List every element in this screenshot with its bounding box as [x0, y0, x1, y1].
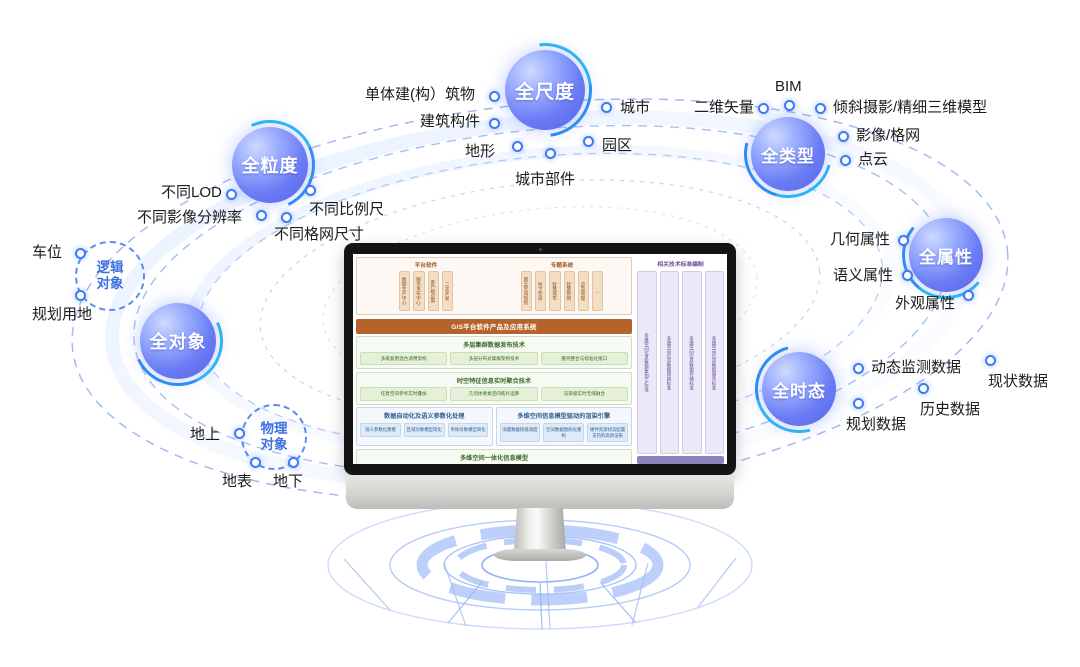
special-chip[interactable]: 应急管理: [578, 271, 589, 311]
dot-object-logical-1[interactable]: [75, 248, 86, 259]
standard-item[interactable]: 多维空间信息数据转换标准: [660, 271, 680, 454]
special-chip[interactable]: 智慧城市: [549, 271, 560, 311]
label-scale-1: 单体建(构）筑物: [365, 83, 475, 104]
section-cell[interactable]: 海量数据快速调度: [500, 423, 541, 442]
platform-software-title: 平台软件: [360, 261, 492, 269]
dot-object-logical-2[interactable]: [75, 290, 86, 301]
section-semantic-processing: 数据自动化及语义参数化处理 语义参数化建模 区域对象模型简化 单体对象模型简化: [356, 407, 493, 446]
monitor-stand-foot: [494, 549, 586, 561]
dot-object-physical-1[interactable]: [234, 428, 245, 439]
label-temporal-4: 规划数据: [846, 413, 906, 434]
subcircle-label: 物理 对象: [261, 421, 288, 454]
label-object-physical-3: 地下: [273, 470, 303, 491]
label-attribute-2: 语义属性: [833, 264, 893, 285]
label-granularity-1: 不同LOD: [161, 181, 222, 202]
label-scale-2: 建筑构件: [420, 110, 480, 131]
section-cell[interactable]: 几何体要素空间拓扑运算: [450, 387, 537, 401]
dot-type-1[interactable]: [758, 103, 769, 114]
section-cell[interactable]: 服务整合与标准化接口: [541, 352, 628, 366]
standards-title: 相关技术标准编制: [637, 259, 724, 268]
dot-temporal-4[interactable]: [853, 398, 864, 409]
section-cell[interactable]: 渲染级实时无缝融合: [541, 387, 628, 401]
subcircle-label: 逻辑 对象: [97, 260, 124, 293]
gis-platform-bar: GIS平台软件产品及应用系统: [356, 319, 632, 334]
node-label: 全对象: [150, 328, 207, 354]
standards-base-bar: [637, 456, 724, 464]
dot-type-5[interactable]: [840, 155, 851, 166]
section-title: 多层集群数据发布技术: [360, 340, 628, 349]
dot-granularity-2[interactable]: [256, 210, 267, 221]
section-cell[interactable]: 多层分布式集群架构技术: [450, 352, 537, 366]
monitor-screen: 平台软件 数据生产中心 服务发布中心 客户端应用 二次开发 专题系统: [353, 254, 727, 464]
label-scale-3: 地形: [465, 140, 495, 161]
standard-item[interactable]: 多维空间信息数据存储标准: [682, 271, 702, 454]
section-title: 多维空间信息模型驱动的渲染引擎: [500, 411, 629, 420]
infographic-canvas: 全尺度 全粒度 全类型 全属性 全对象 全时态 逻辑 对象 物理 对象 单体建(…: [0, 0, 1080, 667]
section-cell[interactable]: 区域对象模型简化: [404, 423, 445, 437]
top-products-panel: 平台软件 数据生产中心 服务发布中心 客户端应用 二次开发 专题系统: [356, 257, 632, 315]
dot-granularity-4[interactable]: [281, 212, 292, 223]
label-object-physical-2: 地表: [222, 470, 252, 491]
node-label: 全尺度: [515, 77, 575, 104]
dot-temporal-3[interactable]: [918, 383, 929, 394]
special-chip[interactable]: 地下空间: [535, 271, 546, 311]
label-object-logical-1: 车位: [32, 241, 62, 262]
dot-type-4[interactable]: [838, 131, 849, 142]
section-render-engine: 多维空间信息模型驱动的渲染引擎 海量数据快速调度 空间数据图形化重构 硬件资源状…: [496, 407, 633, 446]
section-title: 数据自动化及语义参数化处理: [360, 411, 489, 420]
dot-temporal-1[interactable]: [853, 363, 864, 374]
dot-object-physical-2[interactable]: [250, 457, 261, 468]
monitor-stand-neck: [514, 508, 566, 552]
section-integrated-model: 多维空间一体化信息模型 多维全空间信息表达研究 多维空间信息集成方法研究 多维空…: [356, 449, 632, 464]
node-label: 全属性: [919, 243, 973, 268]
label-granularity-4: 不同格网尺寸: [274, 223, 364, 244]
special-systems-title: 专题系统: [496, 261, 628, 269]
platform-chip[interactable]: 数据生产中心: [399, 271, 410, 311]
label-temporal-1: 动态监测数据: [871, 356, 961, 377]
label-type-4: 影像/格网: [856, 124, 920, 145]
label-type-3: 倾斜摄影/精细三维模型: [833, 96, 987, 117]
standard-item[interactable]: 多维空间信息数据服务标准: [705, 271, 725, 454]
node-full-type[interactable]: 全类型: [751, 117, 825, 191]
label-granularity-3: 不同比例尺: [309, 198, 384, 219]
dot-scale-2[interactable]: [489, 118, 500, 129]
platform-software-group: 平台软件 数据生产中心 服务发布中心 客户端应用 二次开发: [360, 260, 492, 311]
label-attribute-3: 外观属性: [895, 292, 955, 313]
section-cell[interactable]: 硬件资源状态配置支持的高效渲染: [587, 423, 628, 442]
dot-type-3[interactable]: [815, 103, 826, 114]
label-type-1: 二维矢量: [694, 96, 754, 117]
standard-item[interactable]: 多维空间信息数据集加工标准: [637, 271, 657, 454]
section-cell[interactable]: 单体对象模型简化: [448, 423, 489, 437]
dot-scale-6[interactable]: [545, 148, 556, 159]
label-object-physical-1: 地上: [190, 423, 220, 444]
node-full-temporal[interactable]: 全时态: [762, 352, 836, 426]
special-chip[interactable]: 国土空间规划: [521, 271, 532, 311]
dot-attribute-1[interactable]: [898, 235, 909, 246]
dot-scale-1[interactable]: [489, 91, 500, 102]
webcam-icon: [539, 248, 542, 251]
label-temporal-2: 现状数据: [988, 370, 1048, 391]
dot-attribute-3[interactable]: [963, 290, 974, 301]
dot-object-physical-3[interactable]: [288, 457, 299, 468]
node-label: 全时态: [772, 377, 826, 402]
label-granularity-2: 不同影像分辨率: [137, 206, 242, 227]
dot-scale-3[interactable]: [512, 141, 523, 152]
platform-chip[interactable]: 二次开发: [442, 271, 453, 311]
section-title: 时空特征信息实时聚合技术: [360, 376, 628, 385]
dot-temporal-2[interactable]: [985, 355, 996, 366]
section-cell[interactable]: 多级复用混合调用架构: [360, 352, 447, 366]
section-cell[interactable]: 语义参数化建模: [360, 423, 401, 437]
section-spatiotemporal-fusion: 时空特征信息实时聚合技术 任意空间参考实时叠加 几何体要素空间拓扑运算 渲染级实…: [356, 372, 632, 405]
section-cell[interactable]: 任意空间参考实时叠加: [360, 387, 447, 401]
dot-type-2[interactable]: [784, 100, 795, 111]
dot-scale-4[interactable]: [601, 102, 612, 113]
dot-attribute-2[interactable]: [902, 270, 913, 281]
label-type-2: BIM: [775, 78, 802, 95]
platform-chip[interactable]: 客户端应用: [428, 271, 439, 311]
dot-scale-5[interactable]: [583, 136, 594, 147]
special-systems-group: 专题系统 国土空间规划 地下空间 智慧城市 智慧管网 应急管理 …: [496, 260, 628, 311]
label-scale-5: 园区: [602, 134, 632, 155]
platform-chip[interactable]: 服务发布中心: [413, 271, 424, 311]
node-full-attribute[interactable]: 全属性: [909, 218, 983, 292]
node-full-granularity[interactable]: 全粒度: [232, 127, 308, 203]
label-object-logical-2: 规划用地: [32, 303, 92, 324]
node-label: 全粒度: [242, 152, 299, 178]
node-full-object[interactable]: 全对象: [140, 303, 216, 379]
special-chip[interactable]: 智慧管网: [564, 271, 575, 311]
label-attribute-1: 几何属性: [830, 228, 890, 249]
section-cluster-publish: 多层集群数据发布技术 多级复用混合调用架构 多层分布式集群架构技术 服务整合与标…: [356, 336, 632, 369]
node-full-scale[interactable]: 全尺度: [505, 50, 585, 130]
special-chip[interactable]: …: [592, 271, 603, 311]
label-scale-6: 城市部件: [515, 168, 575, 189]
monitor-chin: [346, 475, 734, 509]
architecture-column: 平台软件 数据生产中心 服务发布中心 客户端应用 二次开发 专题系统: [353, 254, 635, 464]
dot-granularity-3[interactable]: [305, 185, 316, 196]
monitor: 平台软件 数据生产中心 服务发布中心 客户端应用 二次开发 专题系统: [344, 243, 736, 475]
section-title: 多维空间一体化信息模型: [360, 453, 628, 462]
standards-column: 相关技术标准编制 多维空间信息数据集加工标准 多维空间信息数据转换标准 多维空间…: [635, 254, 727, 464]
label-temporal-3: 历史数据: [920, 398, 980, 419]
label-scale-4: 城市: [620, 96, 650, 117]
node-label: 全类型: [761, 142, 815, 167]
label-type-5: 点云: [858, 148, 888, 169]
dot-granularity-1[interactable]: [226, 189, 237, 200]
section-cell[interactable]: 空间数据图形化重构: [543, 423, 584, 442]
